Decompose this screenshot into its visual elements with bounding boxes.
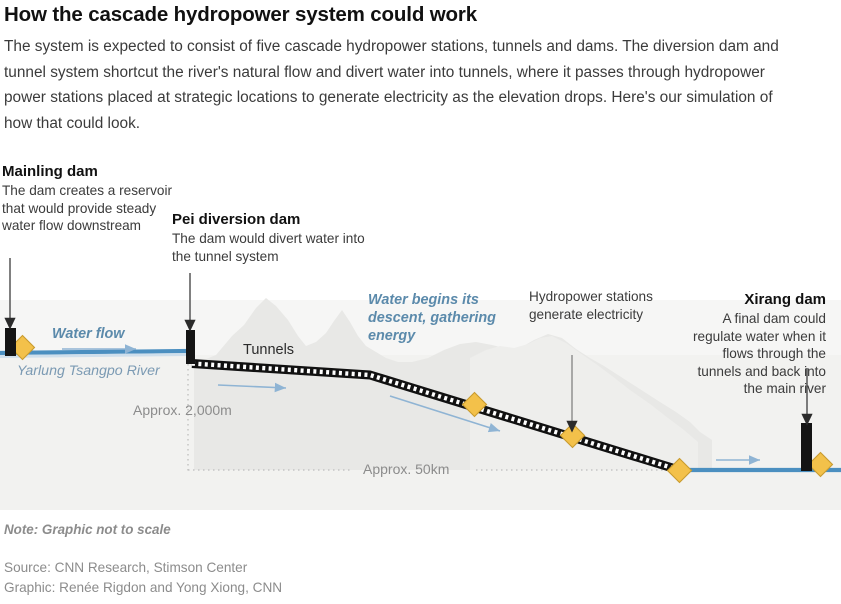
annotation-title: Mainling dam [2, 162, 172, 181]
callout-water-descent: Water begins its descent, gathering ener… [368, 291, 498, 345]
annotation-body: The dam creates a reservoir that would p… [2, 182, 172, 235]
dam-xirang[interactable] [801, 423, 812, 471]
source-credit: Source: CNN Research, Stimson Center Gra… [4, 558, 282, 598]
page-standfirst: The system is expected to consist of fiv… [4, 34, 794, 136]
dam-pei[interactable] [186, 330, 195, 364]
annotation-body: A final dam could regulate water when it… [690, 310, 826, 398]
annotation-hydropower-stations: Hydropower stations generate electricity [529, 288, 659, 323]
label-tunnels: Tunnels [243, 342, 294, 358]
label-elevation-approx: Approx. 2,000m [133, 402, 232, 418]
river-upstream-shade [0, 355, 190, 357]
label-yarlung-tsangpo-river: Yarlung Tsangpo River [17, 363, 160, 379]
annotation-title: Xirang dam [690, 290, 826, 309]
label-distance-approx: Approx. 50km [363, 461, 449, 477]
annotation-body: Hydropower stations generate electricity [529, 288, 659, 323]
annotation-body: The dam would divert water into the tunn… [172, 230, 372, 265]
note-not-to-scale: Note: Graphic not to scale [4, 522, 171, 537]
source-line: Source: CNN Research, Stimson Center [4, 558, 282, 578]
infographic-page: How the cascade hydropower system could … [0, 0, 841, 604]
credit-line: Graphic: Renée Rigdon and Yong Xiong, CN… [4, 578, 282, 598]
annotation-title: Pei diversion dam [172, 210, 372, 229]
annotation-mainling-dam: Mainling dam The dam creates a reservoir… [2, 162, 172, 235]
dam-mainling[interactable] [5, 328, 16, 356]
annotation-pei-dam: Pei diversion dam The dam would divert w… [172, 210, 372, 265]
annotation-xirang-dam: Xirang dam A final dam could regulate wa… [690, 290, 826, 398]
diagram-canvas: Mainling dam The dam creates a reservoir… [0, 150, 841, 510]
callout-water-flow: Water flow [52, 325, 125, 343]
page-title: How the cascade hydropower system could … [4, 2, 824, 28]
